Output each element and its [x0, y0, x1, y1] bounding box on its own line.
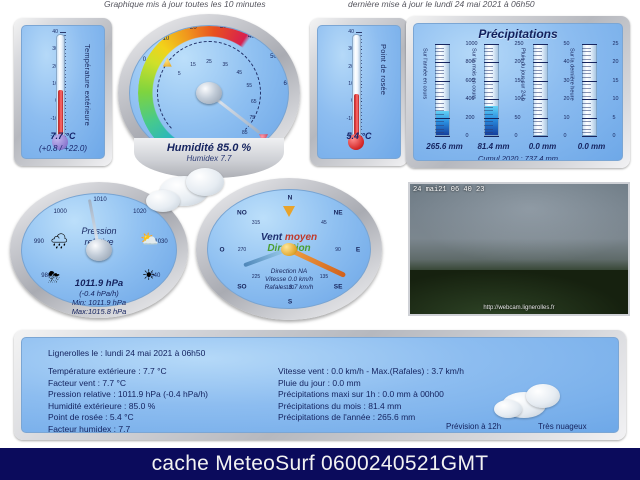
precipitation-minor-tick — [435, 132, 444, 133]
precipitation-tick-label: 15 — [613, 78, 619, 84]
thermo-tick — [60, 32, 66, 33]
readout-line: Vitesse vent : 0.0 km/h - Max.(Rafales) … — [278, 366, 464, 378]
precipitation-tick-label: 0 — [613, 133, 616, 139]
precipitation-minor-tick — [435, 96, 444, 97]
wind-direction-value: Direction NA — [208, 268, 370, 276]
precipitation-minor-tick — [435, 66, 444, 67]
precipitation-tick — [484, 62, 499, 63]
barometer-tick-label: 1020 — [133, 209, 146, 215]
precipitation-minor-tick — [533, 110, 542, 111]
readout-line: Facteur humidex : 7.7 — [48, 424, 208, 434]
precipitation-minor-tick — [435, 103, 444, 104]
readout-heading: Lignerolles le : lundi 24 mai 2021 à 06h… — [48, 348, 205, 358]
webcam-timestamp: 24 mai21 06 40 23 — [413, 186, 484, 194]
precipitation-minor-tick — [533, 77, 542, 78]
precipitation-minor-tick — [484, 59, 493, 60]
precipitation-tick — [533, 99, 548, 100]
precipitation-minor-tick — [484, 121, 493, 122]
precipitation-tick — [484, 99, 499, 100]
precipitation-values: 265.6 mm81.4 mm0.0 mm0.0 mm — [420, 142, 616, 151]
readout-line: Température extérieure : 7.7 °C — [48, 366, 208, 378]
precipitation-minor-tick — [484, 110, 493, 111]
humidity-tick-label: 0 — [143, 57, 146, 63]
precipitation-minor-tick — [582, 48, 591, 49]
precipitation-column-value: 0.0 mm — [568, 142, 616, 151]
precipitation-minor-tick — [435, 114, 444, 115]
precipitation-tick-label: 0 — [564, 133, 567, 139]
precipitation-tick-label: 5 — [613, 115, 616, 121]
wind-pointer-hub — [281, 243, 297, 256]
precipitation-minor-tick — [582, 73, 591, 74]
precipitation-tick — [582, 44, 597, 45]
precipitation-minor-tick — [582, 107, 591, 108]
barometer-tick-label: 1010 — [93, 197, 106, 203]
precipitation-minor-tick — [533, 48, 542, 49]
header-update-interval-note: Graphique mis à jour toutes les 10 minut… — [104, 0, 266, 10]
precipitation-tick — [484, 44, 499, 45]
bottom-status-bar: cache MeteoSurf 0600240521GMT — [0, 448, 640, 480]
weather-dashboard: Graphique mis à jour toutes les 10 minut… — [0, 0, 640, 480]
readout-line: Précipitations maxi sur 1h : 0.0 mm à 00… — [278, 389, 464, 401]
precipitation-minor-tick — [435, 51, 444, 52]
outside-thermo-tube — [56, 34, 65, 138]
precipitation-minor-tick — [582, 125, 591, 126]
precipitation-tick — [435, 99, 450, 100]
precipitation-minor-tick — [484, 107, 493, 108]
precipitation-minor-tick — [484, 129, 493, 130]
precipitation-minor-tick — [582, 110, 591, 111]
precipitation-minor-tick — [435, 84, 444, 85]
wind-speed-value: Vitesse 0.0 km/h — [208, 276, 370, 284]
precipitation-minor-tick — [533, 88, 542, 89]
precipitation-ticks: 50403020100 — [533, 44, 548, 136]
precipitation-minor-tick — [435, 107, 444, 108]
precipitation-tick — [533, 44, 548, 45]
wind-degree-label: 45 — [321, 220, 327, 226]
outside-temperature-value: 7.7 °C — [22, 131, 104, 141]
precipitation-minor-tick — [533, 103, 542, 104]
barometer-needle-hub — [86, 239, 112, 261]
precipitation-minor-tick — [582, 70, 591, 71]
header-last-update-note: dernière mise à jour le lundi 24 mai 202… — [348, 0, 535, 10]
precipitation-tick — [435, 136, 450, 137]
precipitation-ticks: 2520151050 — [582, 44, 597, 136]
readout-line: Facteur vent : 7.7 °C — [48, 378, 208, 390]
precipitation-tick-label: 10 — [613, 96, 619, 102]
precipitation-column-label: Sur la dernière heure — [569, 48, 575, 136]
precipitation-minor-tick — [582, 51, 591, 52]
pressure-value: 1011.9 hPa — [33, 278, 165, 289]
precipitation-column-value: 265.6 mm — [421, 142, 469, 151]
outside-temperature-thermometer: 403020100-10-20 Température extérieure 7… — [14, 18, 112, 166]
precipitation-minor-tick — [484, 103, 493, 104]
wind-degree-label: 315 — [252, 220, 260, 226]
precipitation-tick — [582, 62, 597, 63]
precipitation-ticks: 10008006004002000 — [435, 44, 450, 136]
precipitation-minor-tick — [582, 103, 591, 104]
precipitation-minor-tick — [435, 55, 444, 56]
precipitation-tick — [533, 62, 548, 63]
webcam-sky — [410, 184, 628, 265]
precipitation-column: Sur l'année en cours10008006004002000 — [421, 44, 469, 140]
precipitation-minor-tick — [484, 125, 493, 126]
precipitation-tick — [484, 118, 499, 119]
bottom-bar-prefix: cache — [152, 452, 216, 475]
precipitation-minor-tick — [484, 96, 493, 97]
precipitation-column: Pluie du jour sur 24 h50403020100 — [519, 44, 567, 140]
north-indicator-icon — [283, 206, 295, 217]
forecast-cloud-icon — [494, 380, 570, 420]
precipitation-minor-tick — [484, 55, 493, 56]
precipitation-column: Sur la dernière heure2520151050 — [568, 44, 616, 140]
precipitation-tick — [435, 44, 450, 45]
precipitation-minor-tick — [484, 48, 493, 49]
dew-point-value: 5.4 °C — [318, 131, 400, 141]
outside-temperature-minmax: (+0.8 / +22.0) — [22, 144, 104, 153]
pressure-max: Max:1015.8 hPa — [33, 307, 165, 316]
wind-readout: Direction NA Vitesse 0.0 km/h Rafales 3.… — [208, 268, 370, 292]
barometer-tick-label: 1000 — [53, 209, 66, 215]
precipitation-minor-tick — [582, 66, 591, 67]
precipitation-tick — [533, 118, 548, 119]
precipitation-minor-tick — [533, 66, 542, 67]
bottom-bar-text: cache MeteoSurf 0600240521GMT — [152, 452, 489, 476]
precipitation-minor-tick — [435, 92, 444, 93]
precipitation-minor-tick — [435, 121, 444, 122]
precipitation-tick-label: 25 — [613, 41, 619, 47]
outside-thermo-label: Température extérieure — [83, 44, 92, 126]
humidity-tick-label: 50 — [270, 54, 277, 60]
bottom-bar-brand: MeteoSurf — [215, 452, 321, 475]
precipitation-minor-tick — [582, 88, 591, 89]
precipitation-minor-tick — [533, 59, 542, 60]
precipitation-minor-tick — [533, 107, 542, 108]
readout-line: Pression relative : 1011.9 hPa (-0.4 hPa… — [48, 389, 208, 401]
webcam-url: http://webcam.lignerolles.fr — [410, 305, 628, 311]
bottom-bar-code: 0600240521GMT — [321, 452, 488, 475]
precipitation-minor-tick — [484, 132, 493, 133]
rain-icon: 🌧 — [50, 234, 69, 249]
humidity-needle-hub — [196, 82, 222, 104]
precipitation-tick — [533, 136, 548, 137]
precipitation-column-value: 81.4 mm — [470, 142, 518, 151]
precipitation-minor-tick — [582, 96, 591, 97]
wind-cardinal-n: N — [288, 195, 293, 202]
wind-cardinal-ne: NE — [334, 210, 343, 217]
precipitation-minor-tick — [533, 55, 542, 56]
dew-thermo-label: Point de rosée — [379, 44, 388, 95]
precipitation-minor-tick — [582, 121, 591, 122]
humidity-value: Humidité 85.0 % — [134, 142, 284, 154]
wind-compass-face: N0NE45E90SE135S180SO225O270NO315 Vent mo… — [207, 189, 371, 309]
humidity-tick-label: 30 — [220, 25, 227, 30]
precipitation-minor-tick — [533, 70, 542, 71]
precipitation-minor-tick — [435, 77, 444, 78]
precipitation-tick — [582, 136, 597, 137]
precipitation-minor-tick — [533, 114, 542, 115]
precipitation-minor-tick — [533, 51, 542, 52]
precipitation-minor-tick — [533, 73, 542, 74]
precipitation-tick — [435, 118, 450, 119]
precipitation-column: Sur le mois en cours250200150100500 — [470, 44, 518, 140]
precipitation-minor-tick — [484, 114, 493, 115]
humidity-gauge: 0102030405060708090100515253545556575859… — [118, 14, 300, 172]
precipitation-minor-tick — [533, 84, 542, 85]
precipitation-tick-label: 0 — [466, 133, 469, 139]
precipitation-minor-tick — [533, 121, 542, 122]
wind-gust-value: Rafales 3.7 km/h — [208, 284, 370, 292]
precipitation-column-label: Sur le mois en cours — [471, 48, 477, 136]
precipitation-minor-tick — [435, 129, 444, 130]
precipitation-minor-tick — [435, 48, 444, 49]
precipitation-panel: Précipitations Sur l'année en cours10008… — [406, 16, 630, 168]
precipitation-title: Précipitations — [414, 27, 622, 41]
precipitation-minor-tick — [582, 77, 591, 78]
partly-sun-icon: ⛅ — [140, 232, 159, 247]
forecast-value: Très nuageux — [538, 422, 587, 431]
precipitation-column-label: Sur l'année en cours — [422, 48, 428, 136]
precipitation-tick — [582, 118, 597, 119]
precipitation-minor-tick — [533, 129, 542, 130]
header-strip: Graphique mis à jour toutes les 10 minut… — [0, 0, 640, 12]
readout-line: Précipitations de l'année : 265.6 mm — [278, 412, 464, 424]
precipitation-minor-tick — [484, 84, 493, 85]
precipitation-ticks: 250200150100500 — [484, 44, 499, 136]
precipitation-tick — [435, 62, 450, 63]
readout-line: Point de rosée : 5.4 °C — [48, 412, 208, 424]
wind-cardinal-s: S — [288, 299, 292, 306]
wind-title-vent: Vent — [261, 232, 282, 243]
barometer-readout: 1011.9 hPa (-0.4 hPa/h) Min: 1011.9 hPa … — [33, 278, 165, 316]
precipitation-minor-tick — [582, 132, 591, 133]
humidex-value: Humidex 7.7 — [134, 154, 284, 163]
precipitation-minor-tick — [582, 55, 591, 56]
precipitation-tick — [484, 81, 499, 82]
pressure-trend: (-0.4 hPa/h) — [33, 289, 165, 298]
humidity-tick-label: 10 — [163, 36, 170, 42]
thermo-tick — [356, 32, 362, 33]
outside-thermo-mercury — [58, 90, 63, 137]
pressure-min: Min: 1011.9 hPa — [33, 298, 165, 307]
precipitation-minor-tick — [435, 110, 444, 111]
precipitation-tick-label: 20 — [613, 59, 619, 65]
readout-line: Précipitations du mois : 81.4 mm — [278, 401, 464, 413]
wind-compass-gauge: N0NE45E90SE135S180SO225O270NO315 Vent mo… — [196, 178, 382, 320]
precipitation-minor-tick — [582, 84, 591, 85]
precipitation-minor-tick — [435, 125, 444, 126]
precipitation-tick — [582, 99, 597, 100]
precipitation-minor-tick — [533, 92, 542, 93]
precipitation-minor-tick — [533, 125, 542, 126]
precipitation-column-label: Pluie du jour sur 24 h — [520, 48, 526, 136]
readout-left-column: Température extérieure : 7.7 °CFacteur v… — [48, 366, 208, 433]
precipitation-minor-tick — [533, 132, 542, 133]
readout-line: Pluie du jour : 0.0 mm — [278, 378, 464, 390]
precipitation-minor-tick — [582, 114, 591, 115]
precipitation-minor-tick — [484, 73, 493, 74]
precipitation-minor-tick — [435, 70, 444, 71]
summary-readout-panel: Lignerolles le : lundi 24 mai 2021 à 06h… — [14, 330, 626, 440]
precipitation-minor-tick — [484, 70, 493, 71]
precipitation-tick-label: 0 — [515, 133, 518, 139]
forecast-label: Prévision à 12h — [446, 422, 501, 431]
precipitation-minor-tick — [582, 59, 591, 60]
precipitation-column-value: 0.0 mm — [519, 142, 567, 151]
precipitation-minor-tick — [484, 92, 493, 93]
precipitation-minor-tick — [484, 66, 493, 67]
webcam-image[interactable]: 24 mai21 06 40 23 http://webcam.lignerol… — [408, 182, 630, 316]
precipitation-minor-tick — [484, 77, 493, 78]
precipitation-minor-tick — [533, 96, 542, 97]
precipitation-minor-tick — [435, 73, 444, 74]
precipitation-minor-tick — [582, 129, 591, 130]
precipitation-tick — [582, 81, 597, 82]
humidity-tick-label: 40 — [248, 34, 255, 40]
wind-title-moyen: moyen — [285, 232, 317, 243]
precipitation-columns: Sur l'année en cours10008006004002000Sur… — [420, 44, 616, 140]
dew-thermo-tube — [352, 34, 361, 138]
humidity-tick-label: 20 — [190, 25, 197, 31]
precipitation-tick — [533, 81, 548, 82]
precipitation-minor-tick — [435, 59, 444, 60]
precipitation-minor-tick — [484, 51, 493, 52]
precipitation-tick — [484, 136, 499, 137]
readout-line: Humidité extérieure : 85.0 % — [48, 401, 208, 413]
precipitation-tick — [435, 81, 450, 82]
wind-cardinal-no: NO — [237, 210, 247, 217]
decor-cloud-icon — [186, 168, 224, 196]
dew-point-thermometer: 403020100-10-20 Point de rosée 5.4 °C — [310, 18, 408, 166]
precipitation-cumul: Cumul 2020 : 737.4 mm — [414, 154, 622, 161]
readout-right-column: Vitesse vent : 0.0 km/h - Max.(Rafales) … — [278, 366, 464, 424]
precipitation-minor-tick — [435, 88, 444, 89]
precipitation-minor-tick — [582, 92, 591, 93]
precipitation-minor-tick — [484, 88, 493, 89]
decor-cloud-icon — [146, 190, 180, 212]
